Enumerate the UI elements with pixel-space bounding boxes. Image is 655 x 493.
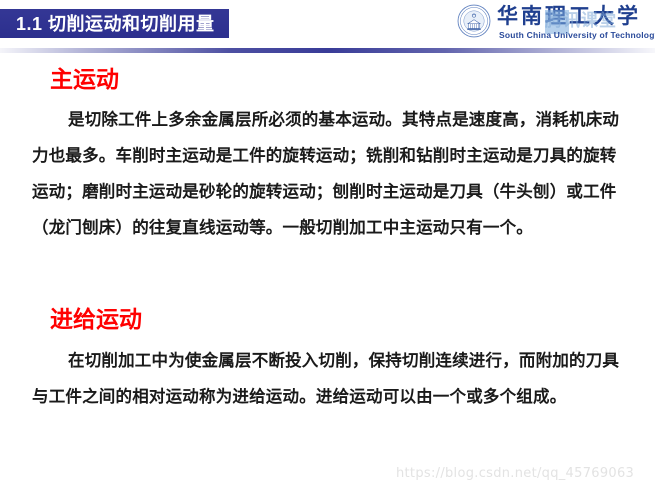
page-title: 1.1 切削运动和切削用量 [16, 15, 215, 33]
university-name-en: South China University of Technology [499, 30, 655, 40]
paragraph-primary-motion: 是切除工件上多余金属层所必须的基本运动。其特点是速度高，消耗机床动力也最多。车削… [32, 102, 632, 246]
heading-primary-motion: 主运动 [50, 67, 119, 92]
paragraph-line: 是切除工件上多余金属层所必须的基本运动。其特点是速度高， [68, 111, 536, 129]
tencent-classroom-watermark: 腾讯课堂 [545, 6, 617, 31]
slide-header: 1.1 切削运动和切削用量 华南理工大学 腾讯课堂 Sou [0, 0, 655, 50]
paragraph-line: 在切削加工中为使金属层不断投入切削，保持切削连续进行，而附 [68, 352, 552, 370]
university-seal-icon [457, 4, 491, 38]
university-logo: 华南理工大学 腾讯课堂 South China University of Te… [449, 2, 649, 44]
slide-page: 1.1 切削运动和切削用量 华南理工大学 腾讯课堂 Sou [0, 0, 655, 493]
csdn-blog-watermark: https://blog.csdn.net/qq_45769063 [396, 466, 634, 481]
section-title-bar: 1.1 切削运动和切削用量 [0, 9, 229, 38]
header-divider [0, 48, 655, 53]
paragraph-feed-motion: 在切削加工中为使金属层不断投入切削，保持切削连续进行，而附加的刀具与工件之间的相… [32, 343, 632, 415]
paragraph-line: 削加工中主运动只有一个。 [333, 219, 533, 237]
paragraph-line: 多个组成。 [483, 388, 567, 406]
heading-feed-motion: 进给运动 [50, 307, 142, 332]
